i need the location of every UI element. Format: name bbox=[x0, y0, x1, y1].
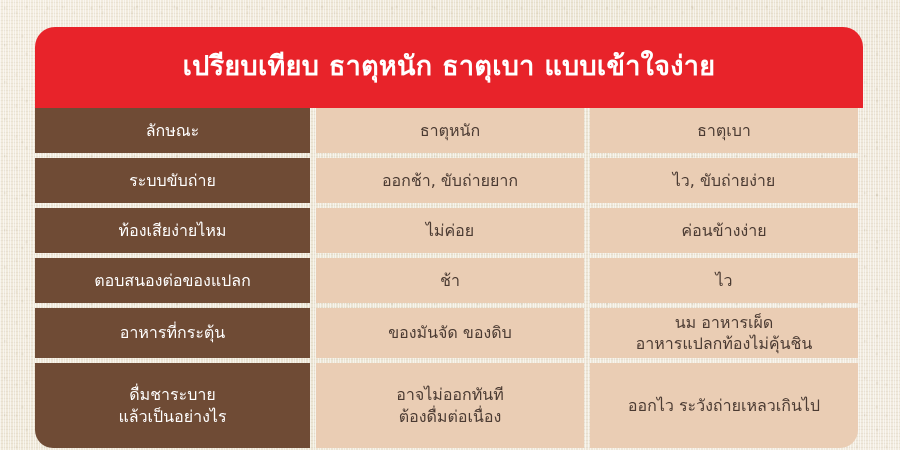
table-row-heavy-cell: ไม่ค่อย bbox=[316, 208, 584, 253]
comparison-table: ลักษณะ ธาตุหนัก ธาตุเบา ระบบขับถ่าย ออกช… bbox=[35, 108, 863, 448]
cell-text: อาจไม่ออกทันที ต้องดื่มต่อเนื่อง bbox=[396, 384, 504, 426]
cell-text: ดื่มชาระบาย แล้วเป็นอย่างไร bbox=[118, 384, 226, 426]
table-row: ดื่มชาระบาย แล้วเป็นอย่างไร อาจไม่ออกทัน… bbox=[35, 363, 863, 448]
table-row-light-cell: นม อาหารเผ็ด อาหารแปลกท้องไม่คุ้นชิน bbox=[590, 308, 858, 358]
table-row-label-cell: ดื่มชาระบาย แล้วเป็นอย่างไร bbox=[35, 363, 310, 448]
table-row-heavy-cell: ช้า bbox=[316, 258, 584, 303]
table-header-row: ลักษณะ ธาตุหนัก ธาตุเบา bbox=[35, 108, 863, 153]
cell-text: ช้า bbox=[440, 270, 460, 291]
table-row-heavy-cell: ของมันจัด ของดิบ bbox=[316, 308, 584, 358]
table-row: อาหารที่กระตุ้น ของมันจัด ของดิบ นม อาหา… bbox=[35, 308, 863, 358]
table-row-light-cell: ค่อนข้างง่าย bbox=[590, 208, 858, 253]
table-row-light-cell: ออกไว ระวังถ่ายเหลวเกินไป bbox=[590, 363, 858, 448]
cell-text: ไม่ค่อย bbox=[426, 220, 474, 241]
table-row-label-cell: ลักษณะ bbox=[35, 108, 310, 153]
table-row: ตอบสนองต่อของแปลก ช้า ไว bbox=[35, 258, 863, 303]
table-row-light-cell: ไว bbox=[590, 258, 858, 303]
table-row-light-cell: ธาตุเบา bbox=[590, 108, 858, 153]
table-row-label-cell: ตอบสนองต่อของแปลก bbox=[35, 258, 310, 303]
table-row-heavy-cell: ออกช้า, ขับถ่ายยาก bbox=[316, 158, 584, 203]
table-row-light-cell: ไว, ขับถ่ายง่าย bbox=[590, 158, 858, 203]
cell-text: นม อาหารเผ็ด อาหารแปลกท้องไม่คุ้นชิน bbox=[636, 312, 813, 354]
title-banner: เปรียบเทียบ ธาตุหนัก ธาตุเบา แบบเข้าใจง่… bbox=[35, 27, 863, 108]
table-row-label-cell: อาหารที่กระตุ้น bbox=[35, 308, 310, 358]
cell-text: ท้องเสียง่ายไหม bbox=[119, 220, 227, 241]
cell-text: ออกไว ระวังถ่ายเหลวเกินไป bbox=[628, 395, 820, 416]
cell-text: ออกช้า, ขับถ่ายยาก bbox=[382, 170, 518, 191]
page-title: เปรียบเทียบ ธาตุหนัก ธาตุเบา แบบเข้าใจง่… bbox=[183, 51, 716, 83]
table-row: ระบบขับถ่าย ออกช้า, ขับถ่ายยาก ไว, ขับถ่… bbox=[35, 158, 863, 203]
cell-text: ค่อนข้างง่าย bbox=[681, 220, 766, 241]
cell-text: ธาตุหนัก bbox=[420, 120, 480, 141]
table-row-label-cell: ระบบขับถ่าย bbox=[35, 158, 310, 203]
cell-text: ธาตุเบา bbox=[697, 120, 751, 141]
cell-text: ของมันจัด ของดิบ bbox=[388, 322, 512, 343]
table-row-heavy-cell: ธาตุหนัก bbox=[316, 108, 584, 153]
cell-text: ระบบขับถ่าย bbox=[129, 170, 216, 191]
cell-text: ไว bbox=[715, 270, 732, 291]
cell-text: ลักษณะ bbox=[146, 120, 199, 141]
cell-text: ไว, ขับถ่ายง่าย bbox=[673, 170, 776, 191]
table-row: ท้องเสียง่ายไหม ไม่ค่อย ค่อนข้างง่าย bbox=[35, 208, 863, 253]
table-row-heavy-cell: อาจไม่ออกทันที ต้องดื่มต่อเนื่อง bbox=[316, 363, 584, 448]
comparison-infographic-card: เปรียบเทียบ ธาตุหนัก ธาตุเบา แบบเข้าใจง่… bbox=[35, 27, 863, 423]
cell-text: อาหารที่กระตุ้น bbox=[120, 322, 225, 343]
cell-text: ตอบสนองต่อของแปลก bbox=[94, 270, 251, 291]
table-row-label-cell: ท้องเสียง่ายไหม bbox=[35, 208, 310, 253]
